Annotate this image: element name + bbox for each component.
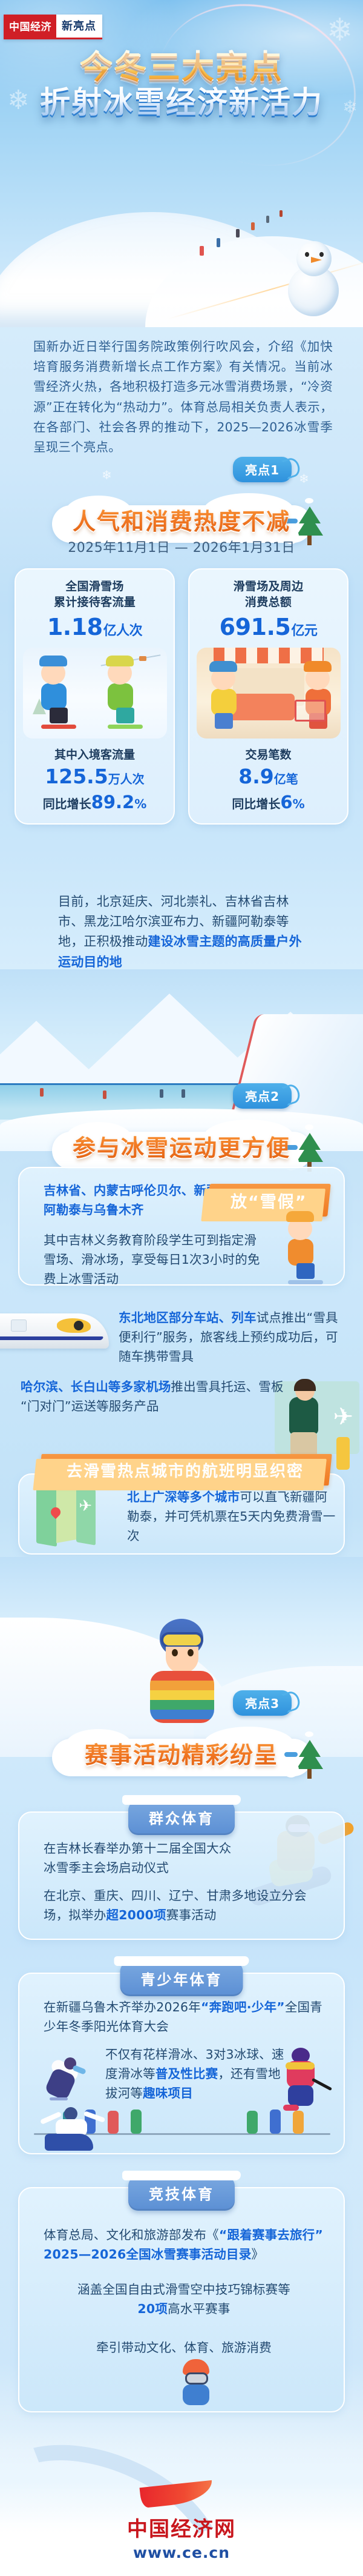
info-card-competitive-sports: 体育总局、文化和旅游部发布《“跟着赛事去旅行”2025—2026全国冰雪赛事活动… <box>18 2187 345 2412</box>
youth-sports-line-2: 不仅有花样滑冰、3对3冰球、速度滑冰等普及性比赛，还有雪地拔河等趣味项目 <box>105 2045 287 2103</box>
traveller-hair <box>294 1379 316 1391</box>
section-1-date-range: 2025年11月1日 — 2026年1月31日 <box>0 537 363 556</box>
competitive-line-1-after: 》 <box>251 2247 264 2262</box>
train-headlight-pupil <box>74 1321 83 1330</box>
snow-holiday-body-text: 其中吉林义务教育阶段学生可到指定滑雪场、滑冰场，享受每日1次3小时的免费上冰雪活… <box>44 1233 260 1286</box>
section-3-title-row: 赛事活动精彩纷呈 <box>0 1733 363 1784</box>
competitive-line-3: 牵引带动文化、体育、旅游消费 <box>44 2339 324 2358</box>
kid-jacket <box>288 1239 313 1266</box>
section-2-header: 亮点2 参与冰雪运动更方便 <box>0 1083 363 1177</box>
kid-skier-blue <box>41 662 76 729</box>
airplane-icon: ✈ <box>333 1403 353 1431</box>
stat-card-unit: 亿元 <box>291 623 317 639</box>
mass-sports-line-1: 在吉林长春举办第十二届全国大众冰雪季主会场启动仪式 <box>44 1839 243 1878</box>
growth-unit: % <box>293 797 305 811</box>
kid-skier-orange-illustration <box>288 1217 323 1284</box>
flight-density-ribbon: 去滑雪热点城市的航班明显织密 <box>38 1454 332 1486</box>
growth-value: 89.2 <box>91 792 135 812</box>
flight-service-text: 北上广深等多个城市可以直飞新疆阿勒泰，并可凭机票在5天内免费滑雪一次 <box>127 1488 339 1545</box>
competitive-line-3-text: 牵引带动文化、体育、旅游消费 <box>96 2340 272 2355</box>
luggage-icon <box>336 1437 350 1470</box>
airport-service-text: 哈尔滨、长白山等多家机场推出雪具托运、雪板“门对门”运送等服务产品 <box>21 1378 287 1416</box>
competitive-line-2-before: 涵盖全国自由式滑雪空中技巧锦标赛等 <box>77 2282 290 2297</box>
ski-kids-photo <box>23 648 167 739</box>
intro-paragraph: 国新办近日举行国务院政策例行吹风会，介绍《加快培育服务消费新增长点工作方案》有关… <box>33 337 333 457</box>
traveller-torso <box>289 1397 318 1435</box>
section-3-heading: 赛事活动精彩纷呈 <box>85 1736 278 1770</box>
snowman-eye <box>319 252 324 257</box>
stat-card-value-row: 1.18亿人次 <box>22 614 168 640</box>
shopping-cart-icon <box>295 700 326 722</box>
stat-card-value-row: 691.5亿元 <box>195 614 341 640</box>
kid-skier-green <box>108 662 143 729</box>
kid-head <box>108 662 132 685</box>
youth-line-2-emph2: 趣味项目 <box>143 2086 193 2100</box>
flight-density-ribbon-label: 去滑雪热点城市的航班明显织密 <box>67 1459 304 1481</box>
page-title: 今冬三大亮点 折射冰雪经济新活力 <box>0 50 363 119</box>
train-window <box>11 1320 27 1332</box>
stat-card-sub-value: 8.9 <box>238 765 273 788</box>
snowman-carrot-nose-icon <box>311 257 322 263</box>
site-logo-text: 中国经济网 <box>0 2512 363 2542</box>
site-url[interactable]: www.ce.cn <box>0 2544 363 2561</box>
map-icon: ✈ <box>36 1483 97 1550</box>
statistics-grid: 全国滑雪场累计接待客流量 1.18亿人次 <box>15 568 348 825</box>
mini-snowman-icon <box>282 1751 300 1778</box>
section-1-badge: 亮点1 <box>233 457 292 482</box>
competitive-line-2-after: 高水平赛事 <box>168 2302 231 2316</box>
speed-skater-icon <box>48 2053 85 2107</box>
skier-silhouette <box>217 238 220 247</box>
snowflake-icon: ❄ <box>327 12 353 48</box>
section-3-header: 亮点3 赛事活动精彩纷呈 <box>0 1690 363 1784</box>
stat-card-sub-value: 125.5 <box>45 765 108 788</box>
kid-head <box>288 1217 312 1240</box>
skier-goggles <box>161 1632 203 1648</box>
title-line-2: 折射冰雪经济新活力 <box>0 87 363 119</box>
competitive-line-1: 体育总局、文化和旅游部发布《“跟着赛事去旅行”2025—2026全国冰雪赛事活动… <box>44 2226 324 2265</box>
kid-head <box>41 662 65 685</box>
competitive-line-2: 涵盖全国自由式滑雪空中技巧锦标赛等20项高水平赛事 <box>44 2280 324 2319</box>
stat-card-value: 691.5 <box>220 614 291 640</box>
section-2-heading: 参与冰雪运动更方便 <box>73 1129 290 1163</box>
mass-sports-line-2-emph: 超2000项 <box>106 1908 166 1922</box>
section-2-badge: 亮点2 <box>233 1083 292 1109</box>
stat-card-sub-value-row: 125.5万人次 <box>22 765 168 788</box>
youth-line-2-emph: 普及性比赛 <box>155 2066 218 2081</box>
competitive-line-2-emph: 20项 <box>137 2302 168 2316</box>
competitive-line-1-before: 体育总局、文化和旅游部发布《 <box>44 2228 219 2242</box>
section-1-heading: 人气和消费热度不减 <box>73 503 290 536</box>
hero-illustration <box>0 145 363 327</box>
ice-hockey-player-icon <box>278 2048 327 2114</box>
youth-sports-line-1: 在新疆乌鲁木齐举办2026年“奔跑吧·少年”全国青少年冬季阳光体育大会 <box>44 1998 328 2037</box>
growth-value: 6 <box>280 792 292 812</box>
snow-holiday-ribbon-label: 放“雪假” <box>231 1189 307 1212</box>
skier-silhouette <box>280 210 283 217</box>
snowman-illustration <box>284 237 342 316</box>
brand-tag-right: 新亮点 <box>56 15 102 39</box>
shop-counter <box>228 694 295 720</box>
train-service-lead: 东北地区部分车站、列车 <box>119 1310 257 1325</box>
skier-silhouette <box>251 222 255 230</box>
section-1-header: 亮点1 人气和消费热度不减 <box>0 457 363 550</box>
youth-line-1-before: 在新疆乌鲁木齐举办2026年 <box>44 2000 201 2014</box>
stat-card-unit: 亿人次 <box>103 623 143 639</box>
stat-card-sub-value-row: 8.9亿笔 <box>195 765 341 788</box>
train-service-text: 东北地区部分车站、列车试点推出“雪具便利行”服务，旅客线上预约成功后，可随车携带… <box>119 1309 342 1366</box>
info-card-snow-holiday: 吉林省、内蒙古呼伦贝尔、新疆阿勒泰与乌鲁木齐 放“雪假” 其中吉林义务教育阶段学… <box>18 1167 345 1286</box>
tag-youth-sports: 青少年体育 <box>120 1962 243 1996</box>
snow-holiday-ribbon: 放“雪假” <box>206 1184 331 1217</box>
stat-card-label: 滑雪场及周边消费总额 <box>195 579 341 610</box>
figure-skater-icon <box>40 2103 106 2152</box>
section-1-paragraph: 目前，北京延庆、河北崇礼、吉林省吉林市、黑龙江哈尔滨亚布力、新疆阿勒泰等地，正积… <box>58 892 312 972</box>
freestyle-skier-icon <box>169 2359 221 2408</box>
stat-card-sub-label: 其中入境客流量 <box>22 746 168 762</box>
stat-card: 滑雪场及周边消费总额 691.5亿元 <box>188 568 348 825</box>
infographic-page: ❄ ❄ ❄ ❄ ❄ ❄ ❄ ❄ ❄ ❄ ❄ ❄ ❄ 中国经济 新亮点 今冬三大亮… <box>0 0 363 2576</box>
snow-holiday-lead-text: 吉林省、内蒙古呼伦贝尔、新疆阿勒泰与乌鲁木齐 <box>44 1183 219 1217</box>
stat-card-label: 全国滑雪场累计接待客流量 <box>22 579 168 610</box>
stat-card: 全国滑雪场累计接待客流量 1.18亿人次 <box>15 568 175 825</box>
info-card-youth-sports: 在新疆乌鲁木齐举办2026年“奔跑吧·少年”全国青少年冬季阳光体育大会 不仅有花… <box>18 1973 345 2154</box>
kid-jacket <box>211 689 237 715</box>
stat-card-growth: 同比增长6% <box>195 792 341 812</box>
kid-head <box>306 667 330 690</box>
mass-sports-line-1-text: 在吉林长春举办第十二届全国大众冰雪季主会场启动仪式 <box>44 1841 232 1875</box>
footer: 中国经济网 www.ce.cn <box>0 2431 363 2576</box>
mass-sports-line-2: 在北京、重庆、四川、辽宁、甘肃多地设立分会场，拟举办超2000项赛事活动 <box>44 1887 322 1925</box>
tag-mass-sports: 群众体育 <box>128 1801 235 1835</box>
kid-shopper-yellow <box>211 667 237 729</box>
title-line-1: 今冬三大亮点 <box>0 50 363 84</box>
tag-competitive-sports: 竞技体育 <box>128 2176 235 2211</box>
skier-silhouette <box>266 216 269 223</box>
youth-line-1-emph: “奔跑吧·少年” <box>201 2000 285 2014</box>
kid-jacket <box>108 683 133 710</box>
skier-silhouette <box>200 246 204 256</box>
stat-card-sub-unit: 万人次 <box>108 772 145 786</box>
skier-eye <box>188 1649 194 1656</box>
growth-unit: % <box>134 797 146 811</box>
skier-face <box>166 1647 198 1673</box>
stat-card-growth: 同比增长89.2% <box>22 792 168 812</box>
growth-prefix: 同比增长 <box>232 797 280 811</box>
airplane-icon: ✈ <box>79 1496 92 1515</box>
train-stripe <box>0 1336 104 1340</box>
brand-tag-left: 中国经济 <box>4 15 56 39</box>
flight-service-lead: 北上广深等多个城市 <box>127 1490 240 1504</box>
snowman-eye <box>305 252 309 257</box>
stat-card-sub-unit: 亿笔 <box>274 772 298 786</box>
stat-card-value: 1.18 <box>47 614 103 640</box>
stat-card-sub-label: 交易笔数 <box>195 746 341 762</box>
skier-eye <box>172 1649 178 1656</box>
snow-holiday-lead: 吉林省、内蒙古呼伦贝尔、新疆阿勒泰与乌鲁木齐 <box>44 1181 225 1220</box>
mass-sports-line-2-after: 赛事活动 <box>166 1908 217 1922</box>
shopping-kids-photo <box>197 648 341 739</box>
train-illustration <box>0 1303 115 1357</box>
kid-head <box>211 667 235 690</box>
section-3-badge: 亮点3 <box>233 1690 292 1716</box>
snow-holiday-body: 其中吉林义务教育阶段学生可到指定滑雪场、滑冰场，享受每日1次3小时的免费上冰雪活… <box>44 1231 261 1289</box>
growth-prefix: 同比增长 <box>43 797 91 811</box>
skier-silhouette <box>236 229 240 237</box>
kid-jacket <box>41 683 67 710</box>
brand-tag: 中国经济 新亮点 <box>4 15 102 39</box>
airport-service-lead: 哈尔滨、长白山等多家机场 <box>21 1379 171 1394</box>
